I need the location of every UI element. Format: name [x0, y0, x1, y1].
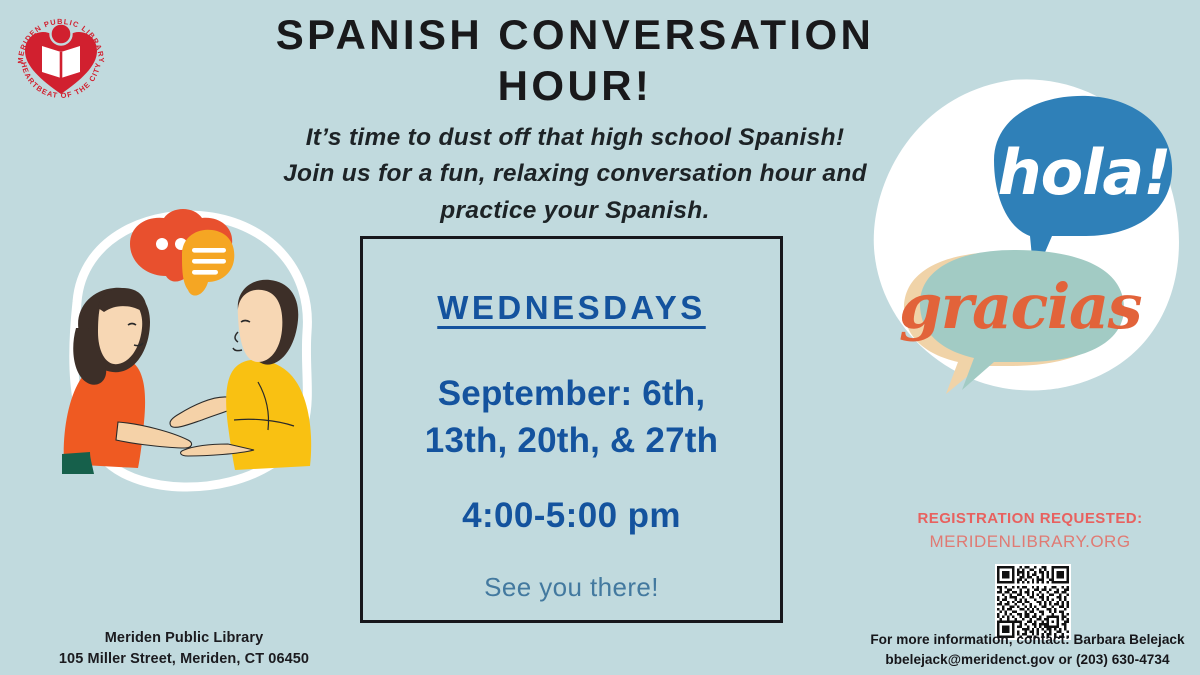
library-name: Meriden Public Library: [14, 628, 354, 649]
spanish-greetings-illustration: hola! gracias: [862, 72, 1200, 412]
poster-title: SPANISH CONVERSATION HOUR!: [185, 9, 965, 111]
meriden-public-library-logo: MERIDEN PUBLIC LIBRARY HEARTBEAT OF THE …: [11, 6, 111, 102]
event-dates-line-2: 13th, 20th, & 27th: [425, 418, 718, 465]
library-street: 105 Miller Street, Meriden, CT 06450: [14, 649, 354, 670]
contact-line-1: For more information, contact: Barbara B…: [855, 630, 1200, 650]
gracias-text: gracias: [899, 270, 1142, 343]
poster-canvas: MERIDEN PUBLIC LIBRARY HEARTBEAT OF THE …: [0, 0, 1200, 675]
two-people-conversing-illustration: [22, 182, 352, 512]
poster-title-line-2: HOUR!: [185, 60, 965, 111]
contact-info: For more information, contact: Barbara B…: [855, 630, 1200, 669]
registration-heading: REGISTRATION REQUESTED:: [860, 510, 1200, 527]
event-dates: September: 6th, 13th, 20th, & 27th: [425, 371, 718, 464]
event-time: 4:00-5:00 pm: [462, 496, 681, 536]
poster-subtitle-line-1: It’s time to dust off that high school S…: [180, 120, 970, 156]
contact-line-2: bbelejack@meridenct.gov or (203) 630-473…: [855, 650, 1200, 670]
event-closing-note: See you there!: [484, 572, 659, 603]
library-address: Meriden Public Library 105 Miller Street…: [14, 628, 354, 669]
event-day: WEDNESDAYS: [437, 289, 706, 327]
event-dates-line-1: September: 6th,: [425, 371, 718, 418]
poster-title-line-1: SPANISH CONVERSATION: [185, 9, 965, 60]
qr-code[interactable]: [995, 564, 1071, 640]
registration-url[interactable]: MERIDENLIBRARY.ORG: [860, 532, 1200, 552]
event-details-box: WEDNESDAYS September: 6th, 13th, 20th, &…: [360, 236, 783, 623]
hola-text: hola!: [997, 136, 1170, 209]
